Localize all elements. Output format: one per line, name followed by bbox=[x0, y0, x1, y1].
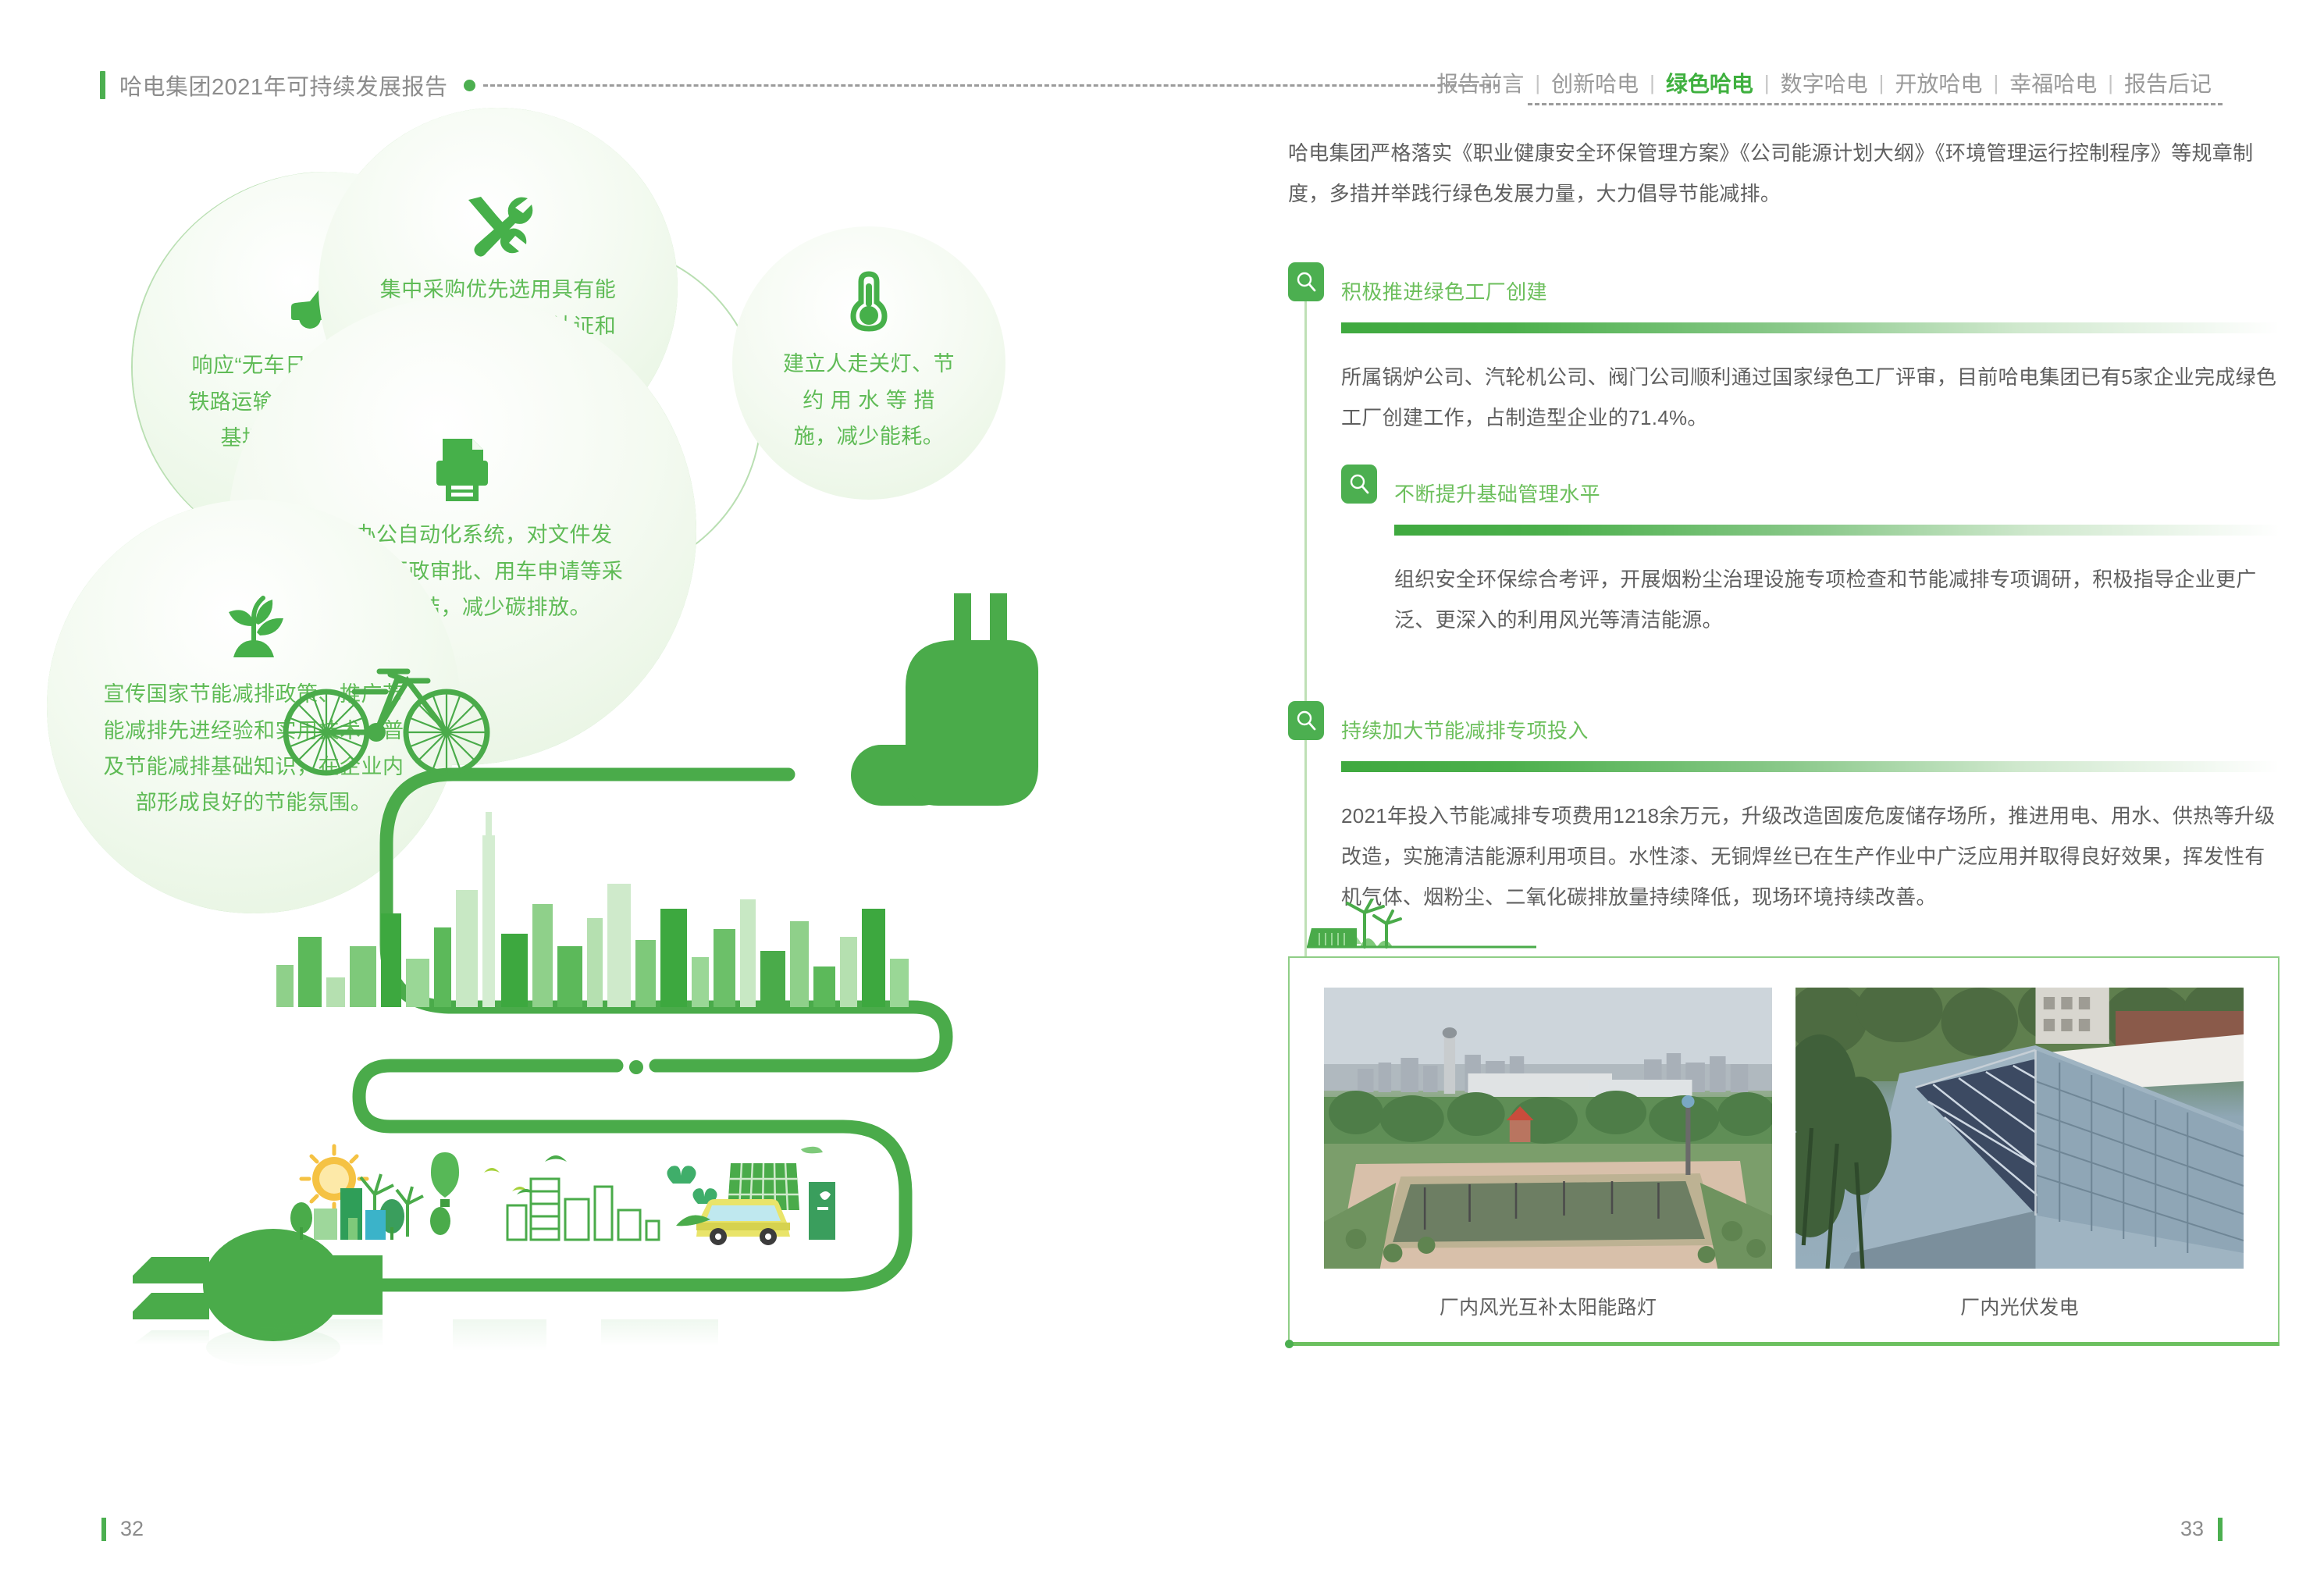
photo-rooftop-pv bbox=[1795, 988, 2244, 1269]
photo-frame-footer-bar bbox=[1288, 1342, 2280, 1346]
nav-item-innovation[interactable]: 创新哈电 bbox=[1540, 67, 1650, 98]
left-page-infographic: 响应“无车日”活动，产品尽量铁路运输，建设秦皇岛出海口基地，减少尾气排放。 集中… bbox=[0, 133, 1226, 1444]
title-accent-bar bbox=[100, 71, 105, 99]
magnifier-badge bbox=[1341, 465, 1377, 504]
nav-separator: | bbox=[1993, 71, 1998, 95]
green-power-cable-illustration bbox=[117, 593, 1038, 1421]
nav-separator: | bbox=[1764, 71, 1770, 95]
subsection-body: 组织安全环保综合考评，开展烟粉尘治理设施专项检查和节能减排专项调研，积极指导企业… bbox=[1394, 525, 2280, 640]
nav-separator: | bbox=[1535, 71, 1540, 95]
report-spread: 哈电集团2021年可持续发展报告 报告前言 | 创新哈电 | 绿色哈电 | 数字… bbox=[0, 0, 2324, 1577]
subsection-paragraph: 组织安全环保综合考评，开展烟粉尘治理设施专项检查和节能减排专项调研，积极指导企业… bbox=[1394, 559, 2280, 640]
search-icon bbox=[1295, 271, 1317, 293]
photo-frame: 厂内风光互补太阳能路灯 bbox=[1288, 956, 2280, 1345]
section-body: 2021年投入节能减排专项费用1218余万元，升级改造固废危废储存场所，推进用电… bbox=[1341, 761, 2280, 917]
printer-icon bbox=[432, 436, 493, 504]
electric-car-icon bbox=[696, 1199, 790, 1245]
bird-icon bbox=[484, 1168, 528, 1191]
bubble-thermometer-text: 建立人走关灯、节 约 用 水 等 措施，减少能耗。 bbox=[782, 346, 956, 454]
tools-icon bbox=[461, 194, 536, 259]
reflection bbox=[133, 1319, 718, 1368]
nav-item-open[interactable]: 开放哈电 bbox=[1884, 67, 1993, 98]
intro-paragraph: 哈电集团严格落实《职业健康安全环保管理方案》《公司能源计划大纲》《环境管理运行控… bbox=[1288, 133, 2280, 214]
nav-item-happy[interactable]: 幸福哈电 bbox=[1998, 67, 2108, 98]
plug-icon bbox=[851, 593, 1038, 806]
page-number-left-group: 32 bbox=[101, 1517, 144, 1541]
section-body: 所属锅炉公司、汽轮机公司、阀门公司顺利通过国家绿色工厂评审，目前哈电集团已有5家… bbox=[1341, 322, 2280, 438]
eco-city-icon bbox=[290, 1146, 835, 1245]
section-title: 积极推进绿色工厂创建 bbox=[1341, 276, 1547, 305]
thermometer-icon bbox=[847, 271, 891, 333]
subsection-management-level: 不断提升基础管理水平 组织安全环保综合考评，开展烟粉尘治理设施专项检查和节能减排… bbox=[1341, 465, 2280, 640]
charging-station-icon bbox=[809, 1182, 835, 1240]
section-gradient-rule bbox=[1341, 322, 2280, 333]
header-dot-marker bbox=[464, 80, 475, 91]
subsection-gradient-rule bbox=[1394, 525, 2280, 536]
page-number-accent-bar bbox=[101, 1518, 106, 1541]
magnifier-badge bbox=[1288, 262, 1324, 301]
butterfly-icon bbox=[667, 1166, 717, 1204]
photo-solar-street-lamp bbox=[1324, 988, 1772, 1269]
section-energy-investment: 持续加大节能减排专项投入 2021年投入节能减排专项费用1218余万元，升级改造… bbox=[1288, 701, 2280, 917]
photo-item: 厂内光伏发电 bbox=[1795, 988, 2244, 1320]
nav-item-preface[interactable]: 报告前言 bbox=[1425, 67, 1535, 98]
photo-item: 厂内风光互补太阳能路灯 bbox=[1324, 988, 1772, 1320]
search-icon bbox=[1348, 473, 1370, 495]
right-page-content: 哈电集团严格落实《职业健康安全环保管理方案》《公司能源计划大纲》《环境管理运行控… bbox=[1288, 133, 2280, 1460]
header-dashed-rule-left bbox=[483, 84, 1498, 87]
bubble-thermometer: 建立人走关灯、节 约 用 水 等 措施，减少能耗。 bbox=[732, 226, 1005, 500]
nav-item-green[interactable]: 绿色哈电 bbox=[1655, 67, 1764, 98]
page-number-right: 33 bbox=[2180, 1517, 2204, 1541]
section-paragraph: 所属锅炉公司、汽轮机公司、阀门公司顺利通过国家绿色工厂评审，目前哈电集团已有5家… bbox=[1341, 357, 2280, 438]
photo-caption: 厂内风光互补太阳能路灯 bbox=[1440, 1292, 1657, 1320]
subsection-header: 不断提升基础管理水平 bbox=[1341, 465, 2280, 507]
photo-block: 厂内风光互补太阳能路灯 bbox=[1288, 956, 2280, 1345]
search-icon bbox=[1295, 710, 1317, 732]
bicycle-icon bbox=[286, 671, 487, 773]
section-header: 持续加大节能减排专项投入 bbox=[1288, 701, 2280, 744]
nav-separator: | bbox=[1879, 71, 1884, 95]
page-header: 哈电集团2021年可持续发展报告 报告前言 | 创新哈电 | 绿色哈电 | 数字… bbox=[0, 0, 2324, 133]
nav-item-postscript[interactable]: 报告后记 bbox=[2113, 67, 2223, 98]
report-title: 哈电集团2021年可持续发展报告 bbox=[119, 69, 448, 101]
header-title-group: 哈电集团2021年可持续发展报告 bbox=[100, 69, 1498, 101]
magnifier-badge bbox=[1288, 701, 1324, 740]
section-green-factory: 积极推进绿色工厂创建 所属锅炉公司、汽轮机公司、阀门公司顺利通过国家绿色工厂评审… bbox=[1288, 262, 2280, 640]
section-spine bbox=[1304, 301, 1307, 739]
subsection-title: 不断提升基础管理水平 bbox=[1394, 479, 1600, 507]
section-gradient-rule bbox=[1341, 761, 2280, 772]
section-title: 持续加大节能减排专项投入 bbox=[1341, 715, 1589, 744]
wind-turbine-hill-icon bbox=[1302, 899, 1536, 961]
photo-caption: 厂内光伏发电 bbox=[1960, 1292, 2079, 1320]
page-number-right-group: 33 bbox=[2180, 1517, 2223, 1541]
section-nav[interactable]: 报告前言 | 创新哈电 | 绿色哈电 | 数字哈电 | 开放哈电 | 幸福哈电 … bbox=[1425, 67, 2223, 98]
nav-item-digital[interactable]: 数字哈电 bbox=[1770, 67, 1879, 98]
section-header: 积极推进绿色工厂创建 bbox=[1288, 262, 2280, 305]
nav-separator: | bbox=[2108, 71, 2113, 95]
city-skyline-icon bbox=[276, 812, 909, 1007]
nav-separator: | bbox=[1650, 71, 1655, 95]
hot-air-balloon-icon bbox=[431, 1152, 459, 1207]
page-number-left: 32 bbox=[120, 1517, 144, 1541]
page-number-accent-bar bbox=[2218, 1518, 2223, 1541]
header-dashed-rule-right bbox=[1528, 103, 2223, 105]
